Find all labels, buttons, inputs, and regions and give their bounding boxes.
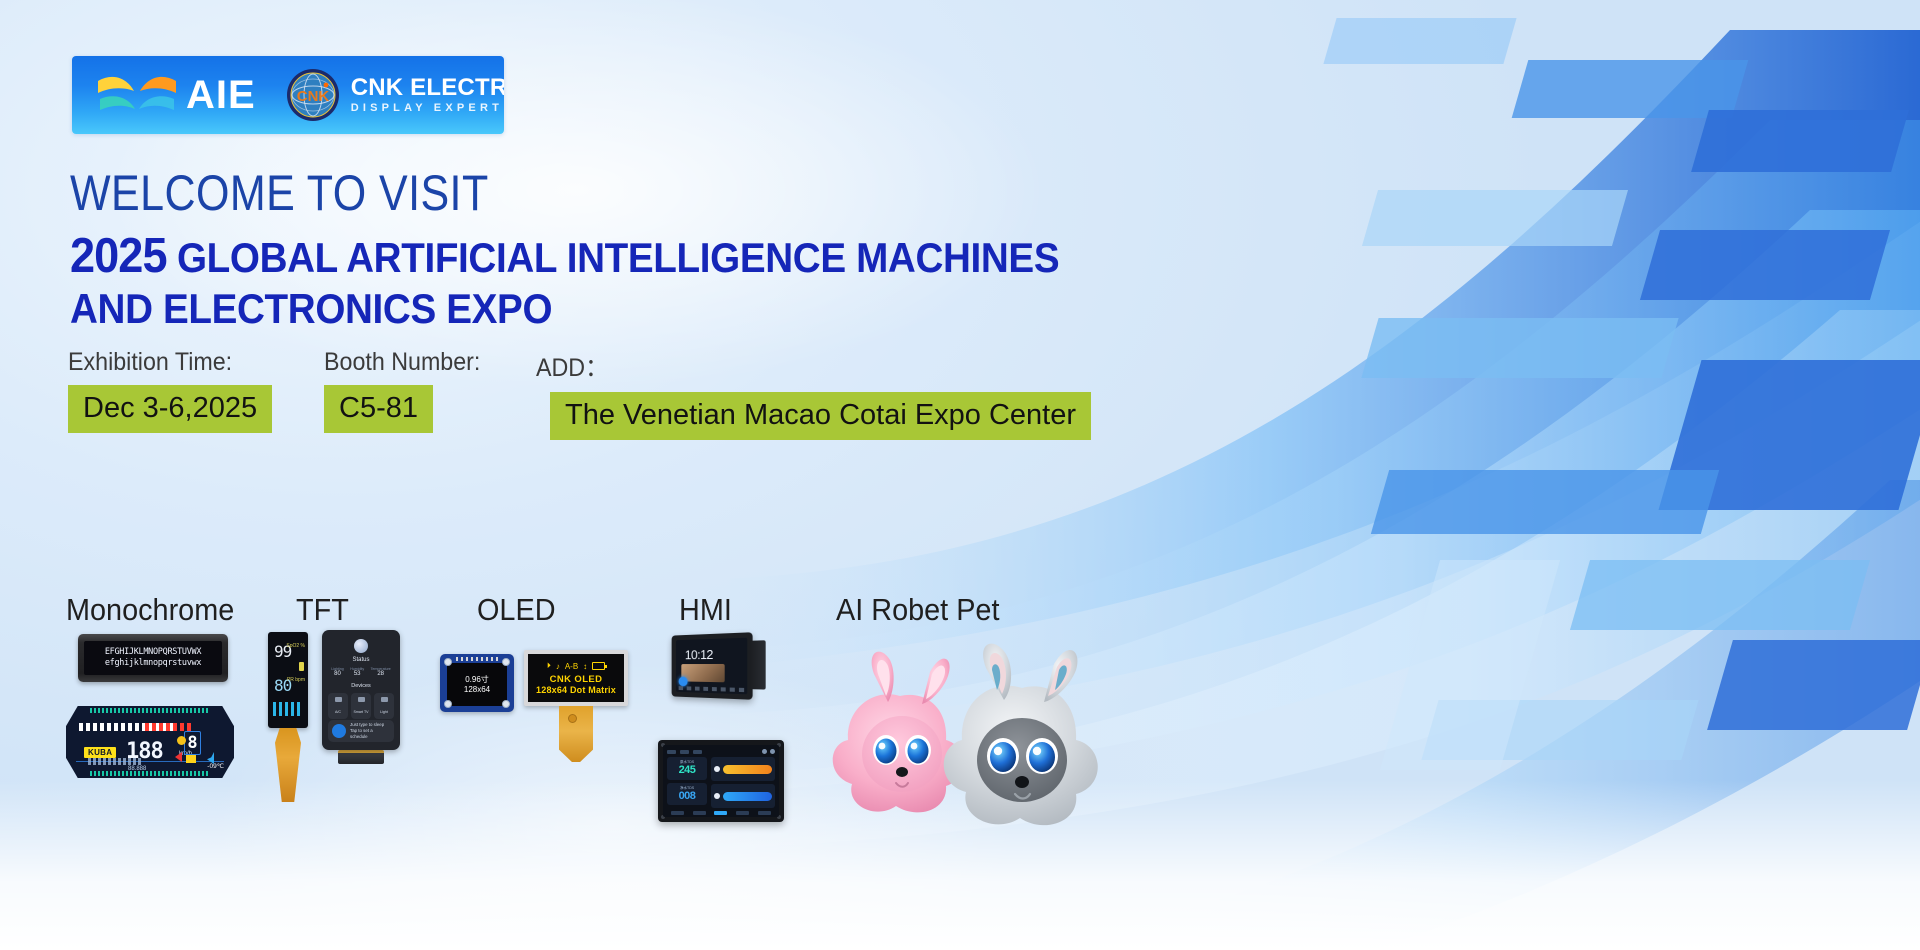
hmi-mounting-clip <box>750 640 765 689</box>
weather-moon-icon <box>354 639 368 653</box>
tft-bar-vitals-strip: 99 SpO2 % 80 PR bpm <box>268 632 308 802</box>
welcome-heading: WELCOME TO VISIT <box>70 164 489 222</box>
mount-hole <box>444 700 452 708</box>
category-label-hmi: HMI <box>679 592 732 628</box>
hmi-dock-bar <box>679 686 744 692</box>
hot-water-slider <box>711 757 775 781</box>
sleep-action-text: Just type to sleep Tap to set a schedule <box>350 722 390 739</box>
stat-lighting: Lighting 80 <box>331 667 344 677</box>
vfd-housing: EFGHIJKLMNOPQRSTUVWX efghijklmnopqrstuvw… <box>78 634 228 682</box>
stat-value: 28 <box>371 671 391 677</box>
wifi-icon <box>762 749 767 754</box>
hmi-tab <box>667 750 676 754</box>
vitals-spo2-unit: SpO2 % <box>286 644 305 650</box>
stat-value: 80 <box>331 671 344 677</box>
device-tile-smart-tv: Smart TV <box>351 693 371 719</box>
cnk-text-block: CNK ELECTRONICS DISPLAY EXPERT <box>351 75 504 115</box>
oled-screen: 0.96寸 128x64 <box>447 663 507 706</box>
decor-block <box>1371 470 1719 534</box>
hmi-scene-thumbnail <box>681 664 724 682</box>
device-label: A/C <box>330 710 346 714</box>
oled-size-text: 0.96寸 <box>465 675 489 684</box>
cluster-brand-badge: KUBA <box>84 747 116 758</box>
cnk-globe-badge-icon: CNK <box>286 68 340 122</box>
hmi-water-purifier-panel: 原水TDS 245 净水TDS 008 <box>658 740 784 822</box>
cog-line-2: 128x64 Dot Matrix <box>536 685 616 695</box>
cog-flex-cable <box>559 706 593 762</box>
vitals-battery-icon <box>299 662 304 671</box>
ab-repeat-label: A-B <box>565 662 578 671</box>
raw-water-tds-card: 原水TDS 245 <box>667 757 707 780</box>
info-value-badge: Dec 3-6,2025 <box>68 385 272 433</box>
decor-block <box>1361 318 1678 378</box>
hmi-large-body: 原水TDS 245 净水TDS 008 <box>667 757 775 808</box>
category-label-ai-robot-pet: AI Robet Pet <box>836 592 999 628</box>
info-label: Exhibition Time: <box>68 348 306 377</box>
hmi-large-housing: 原水TDS 245 净水TDS 008 <box>658 740 784 822</box>
nav-button-active <box>714 811 727 815</box>
vfd-line-2: efghijklmnopqrstuvwx <box>105 658 201 669</box>
tds-value: 245 <box>669 765 705 777</box>
category-label-oled: OLED <box>477 592 556 628</box>
tft-flex-cable <box>275 728 301 802</box>
event-title: 2025 GLOBAL ARTIFICIAL INTELLIGENCE MACH… <box>70 228 1059 334</box>
nav-button <box>693 811 706 815</box>
logo-bar: AIE CNK CNK ELECTRONICS DISPLAY EXPERT <box>72 56 504 134</box>
status-heading: Status <box>328 657 394 663</box>
hmi-sliders <box>711 757 775 808</box>
sleep-action-subtitle: Tap to set a schedule <box>350 728 390 739</box>
info-booth-number: Booth Number: C5-81 <box>324 348 536 440</box>
hmi-small-screen: 10:12 Wed 12 · 24℃ <box>676 638 747 695</box>
stat-value: 53 <box>350 671 364 677</box>
light-icon <box>381 697 388 702</box>
slider-track <box>723 792 772 801</box>
ac-icon <box>335 697 342 702</box>
mount-hole <box>502 658 510 666</box>
cluster-tach-redline <box>145 723 191 731</box>
cluster-pins-top <box>90 708 211 713</box>
nav-button <box>758 811 771 815</box>
tv-icon <box>358 697 365 702</box>
monochrome-vfd-module: EFGHIJKLMNOPQRSTUVWX efghijklmnopqrstuvw… <box>78 634 228 682</box>
tft-strip-screen: 99 SpO2 % 80 PR bpm <box>268 632 308 728</box>
aie-logo: AIE <box>94 67 256 123</box>
vitals-pulse-unit: PR bpm <box>287 678 305 684</box>
vitals-waveform <box>273 702 303 716</box>
info-value-badge: C5-81 <box>324 385 433 433</box>
mount-hole <box>502 700 510 708</box>
mount-hole <box>444 658 452 666</box>
settings-icon <box>770 749 775 754</box>
battery-icon <box>592 662 605 670</box>
hmi-large-topbar <box>667 749 775 754</box>
cluster-odometer-bar <box>88 758 142 765</box>
pure-water-tds-card: 净水TDS 008 <box>667 783 707 806</box>
event-title-rest: GLOBAL ARTIFICIAL INTELLIGENCE MACHINES <box>177 234 1059 281</box>
product-showcase: EFGHIJKLMNOPQRSTUVWX efghijklmnopqrstuvw… <box>0 630 1300 930</box>
device-label: Light <box>376 710 392 714</box>
music-note-icon: ♪ <box>556 662 560 671</box>
cluster-temp-value: -09℃ <box>207 762 224 770</box>
stat-humidity: Humidity 53 <box>350 667 364 677</box>
hmi-assistant-icon <box>679 677 688 687</box>
cluster-warning-icon <box>177 736 186 745</box>
cluster-gear-indicator: 8 <box>184 731 201 755</box>
slider-track <box>723 765 772 774</box>
svg-text:CNK: CNK <box>296 88 329 105</box>
company-name: CNK ELECTRONICS <box>351 75 504 100</box>
info-label: Booth Number: <box>324 348 521 377</box>
vfd-screen: EFGHIJKLMNOPQRSTUVWX efghijklmnopqrstuvw… <box>84 641 222 675</box>
sleep-icon <box>332 724 346 738</box>
tds-value: 008 <box>669 791 705 803</box>
oled-096-module: 0.96寸 128x64 <box>440 654 514 712</box>
oled-pcb: 0.96寸 128x64 <box>440 654 514 712</box>
company-tagline: DISPLAY EXPERT <box>351 103 504 115</box>
devices-heading: Devices <box>328 683 394 689</box>
tds-cards: 原水TDS 245 净水TDS 008 <box>667 757 707 808</box>
decor-block <box>1640 230 1890 300</box>
cog-cable-marker <box>568 714 577 723</box>
device-tile-ac: A/C <box>328 693 348 719</box>
updown-arrows-icon: ↕ <box>583 662 587 671</box>
decor-block <box>1323 18 1516 64</box>
cog-screen: ⏵ ♪ A-B ↕ CNK OLED 128x64 Dot Matrix <box>524 650 628 706</box>
status-stats: Lighting 80 Humidity 53 Temperature 28 <box>328 667 394 677</box>
oled-cog-dot-matrix-module: ⏵ ♪ A-B ↕ CNK OLED 128x64 Dot Matrix <box>524 650 628 762</box>
tft-panel-screen: Status Lighting 80 Humidity 53 Temperatu… <box>322 630 400 750</box>
hmi-bottom-nav <box>667 811 775 815</box>
tft-smart-home-panel: Status Lighting 80 Humidity 53 Temperatu… <box>322 630 400 764</box>
device-tiles: A/C Smart TV Light <box>328 693 394 719</box>
category-label-monochrome: Monochrome <box>66 592 234 628</box>
cluster-pins-bottom <box>90 771 211 776</box>
aie-eyes-icon <box>94 67 180 123</box>
decor-block <box>1691 110 1909 172</box>
hmi-large-screen: 原水TDS 245 净水TDS 008 <box>663 745 779 817</box>
cluster-amber-indicator <box>186 755 196 763</box>
oled-resolution-text: 128x64 <box>464 685 490 694</box>
device-label: Smart TV <box>353 710 369 714</box>
category-label-tft: TFT <box>296 592 349 628</box>
hmi-tab <box>693 750 702 754</box>
info-exhibition-time: Exhibition Time: Dec 3-6,2025 <box>68 348 324 440</box>
hmi-status-icons <box>762 749 775 754</box>
cog-line-1: CNK OLED <box>550 674 603 685</box>
event-title-line-2: AND ELECTRONICS EXPO <box>70 285 1059 334</box>
info-value-badge: The Venetian Macao Cotai Expo Center <box>550 392 1091 440</box>
cluster-screen: KUBA 188 km/h 8 88.888 -09℃ <box>66 706 234 778</box>
hmi-tab-strip <box>667 750 702 754</box>
aie-wordmark: AIE <box>186 75 256 115</box>
product-category-labels: Monochrome TFT OLED HMI AI Robet Pet <box>0 592 1300 626</box>
info-address: ADD： The Venetian Macao Cotai Expo Cente… <box>536 348 1091 440</box>
oled-pin-header <box>456 657 498 661</box>
gray-robot-pet <box>930 636 1140 836</box>
nav-button <box>736 811 749 815</box>
hmi-tab <box>680 750 689 754</box>
decor-block <box>1707 640 1920 730</box>
slider-knob <box>714 793 720 799</box>
stat-temperature: Temperature 28 <box>371 667 391 677</box>
event-info-row: Exhibition Time: Dec 3-6,2025 Booth Numb… <box>68 348 1091 440</box>
cluster-trip-value: 88.888 <box>128 766 146 772</box>
hmi-wall-panel: 10:12 Wed 12 · 24℃ <box>668 634 752 698</box>
info-label: ADD： <box>536 348 1052 384</box>
cluster-turn-left-icon <box>175 752 182 762</box>
cog-status-icons: ⏵ ♪ A-B ↕ <box>547 661 605 671</box>
decor-block <box>1570 560 1870 630</box>
tft-panel-connector <box>338 750 384 764</box>
vfd-line-1: EFGHIJKLMNOPQRSTUVWX <box>105 647 201 658</box>
decor-block <box>1362 190 1628 246</box>
event-title-line-1: 2025 GLOBAL ARTIFICIAL INTELLIGENCE MACH… <box>70 228 1059 285</box>
hmi-clock: 10:12 <box>685 647 713 662</box>
device-tile-light: Light <box>374 693 394 719</box>
event-year: 2025 <box>70 229 167 283</box>
nav-button <box>671 811 684 815</box>
cold-water-slider <box>711 784 775 808</box>
slider-knob <box>714 766 720 772</box>
play-next-icon: ⏵ <box>547 661 551 671</box>
sleep-action-row: Just type to sleep Tap to set a schedule <box>328 720 394 742</box>
motorcycle-cluster-lcd: KUBA 188 km/h 8 88.888 -09℃ <box>66 706 234 778</box>
hmi-small-housing: 10:12 Wed 12 · 24℃ <box>672 632 753 700</box>
